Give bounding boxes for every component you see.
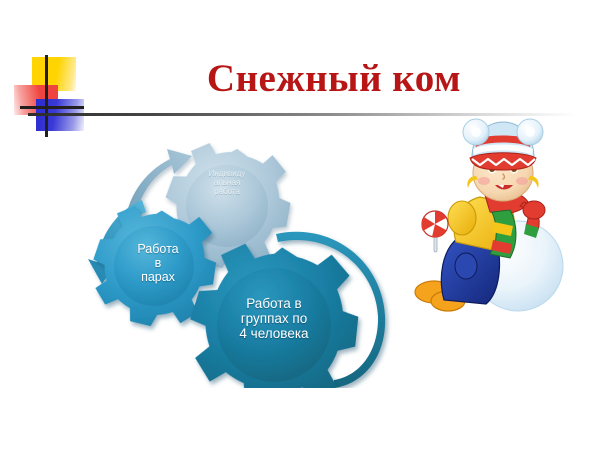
slide-canvas: Снежный ком bbox=[0, 0, 600, 450]
header-divider bbox=[28, 113, 576, 116]
page-title: Снежный ком bbox=[0, 57, 600, 101]
child-hat bbox=[463, 119, 543, 170]
gears-process-diagram: Индивиду альная работа Работа в парах Ра… bbox=[88, 138, 398, 388]
child-with-snowball-clipart bbox=[406, 118, 586, 318]
child-mittens bbox=[523, 201, 545, 219]
cross-horizontal-line bbox=[20, 106, 84, 109]
lollipop-icon bbox=[421, 211, 448, 252]
